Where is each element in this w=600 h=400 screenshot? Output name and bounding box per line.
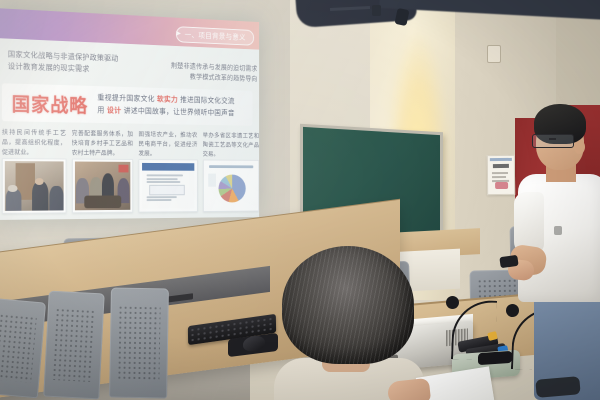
strategy-line-1-a: 重视提升国家文化 xyxy=(97,93,154,103)
photo-flag xyxy=(118,165,128,173)
shirt-logo-icon xyxy=(554,226,562,235)
wall-socket xyxy=(487,45,501,63)
document-line xyxy=(146,178,177,180)
presenter xyxy=(512,100,600,400)
pie-chart-art xyxy=(206,163,256,208)
wall-notice xyxy=(487,155,515,195)
projected-slide[interactable]: ➤ 一、项目背景与意义 国家文化战略与非遗保护政策驱动设计教育发展的现实需求 荆… xyxy=(0,8,259,220)
slide-card-text: 扶持民间传统手工艺品，提高组织化程度，促进就业。 xyxy=(2,128,66,155)
document-line xyxy=(146,196,176,198)
strategy-line-2-b: 讲述中国故事，让世界倾听中国声音 xyxy=(124,106,235,117)
chart-legend xyxy=(208,173,216,186)
strategy-line-2: 用 设计 讲述中国故事，让世界倾听中国声音 xyxy=(97,105,234,120)
document-titlebar xyxy=(142,163,194,171)
slide-card-text: 举办多省区非遗工艺和陶瓷工艺品等文化产品交易。 xyxy=(203,131,260,157)
photo-head-1 xyxy=(8,184,17,191)
eyeglasses-icon xyxy=(532,134,574,148)
chair xyxy=(43,291,104,400)
spotlight-secondary-icon xyxy=(372,5,381,16)
slide-heading-left: 国家文化战略与非遗保护政策驱动设计教育发展的现实需求 xyxy=(8,49,150,77)
slide-card-text: 图强培农产业，推动农民电商平台，促进经济发展。 xyxy=(138,130,197,156)
strategy-line-1-b: 推进国际文化交流 xyxy=(180,96,235,106)
microphone-base xyxy=(478,351,512,365)
photo-person-1 xyxy=(6,189,21,211)
slide-strategy-keyword: 国家战略 xyxy=(12,89,88,117)
pie-chart xyxy=(218,174,246,203)
screenshot-policy-document xyxy=(138,159,197,213)
slide-strategy-row: 国家战略 重视提升国家文化 软实力 推进国际文化交流 用 设计 讲述中国故事，让… xyxy=(2,83,253,126)
document-line xyxy=(146,175,182,177)
chart-pie-survey xyxy=(203,160,260,212)
photo-table xyxy=(85,195,122,208)
notice-line xyxy=(492,172,508,174)
chart-title-bar xyxy=(209,165,253,168)
document-screenshot-art xyxy=(142,163,194,209)
slide-card: 举办多省区非遗工艺和陶瓷工艺品等文化产品交易。 xyxy=(203,131,260,212)
document-inner-box xyxy=(149,185,184,195)
slide-card-text: 完善配套服务体系，加快培育乡村手工艺品和农村土特产品牌。 xyxy=(72,129,133,156)
classroom-photo-scene: ➤ 一、项目背景与意义 国家文化战略与非遗保护政策驱动设计教育发展的现实需求 荆… xyxy=(0,0,600,400)
strategy-line-1-emphasis: 软实力 xyxy=(157,95,178,104)
attendee-hair xyxy=(282,246,414,364)
chair xyxy=(109,288,169,399)
microphone-capsule-icon xyxy=(446,296,459,309)
slide-card: 图强培农产业，推动农民电商平台，促进经济发展。 xyxy=(138,130,197,212)
slide-card-row: 扶持民间传统手工艺品，提高组织化程度，促进就业。 完善配套服务体系，加快培育乡村… xyxy=(0,128,259,214)
photo-person-2 xyxy=(32,181,48,211)
strategy-line-2-emphasis: 设计 xyxy=(107,106,121,115)
notice-line xyxy=(492,176,506,178)
photo-officials-visit xyxy=(2,158,66,214)
notice-header-bar xyxy=(490,158,512,161)
document-line xyxy=(146,181,180,183)
slide-strategy-text: 重视提升国家文化 软实力 推进国际文化交流 用 设计 讲述中国故事，让世界倾听中… xyxy=(97,92,234,119)
slide-card: 扶持民间传统手工艺品，提高组织化程度，促进就业。 xyxy=(2,128,66,214)
photo-officials-visit-art xyxy=(5,161,63,211)
slide-heading-right: 荆楚非遗传承与发展的迫切需求教学模式改革的趋势导向 xyxy=(161,61,258,85)
notice-title xyxy=(493,164,509,168)
photo-person-3 xyxy=(49,186,63,211)
eyeglasses-on-table[interactable] xyxy=(535,376,580,398)
seated-attendee xyxy=(282,246,414,400)
slide-card: 完善配套服务体系，加快培育乡村手工艺品和农村土特产品牌。 xyxy=(72,129,133,213)
notice-red-stamp xyxy=(495,182,508,189)
photo-head-2 xyxy=(35,178,43,185)
strategy-line-2-a: 用 xyxy=(97,105,104,114)
photo-craft-workshop-art xyxy=(74,162,130,211)
document-line xyxy=(146,199,171,201)
photo-craft-workshop xyxy=(72,159,133,214)
